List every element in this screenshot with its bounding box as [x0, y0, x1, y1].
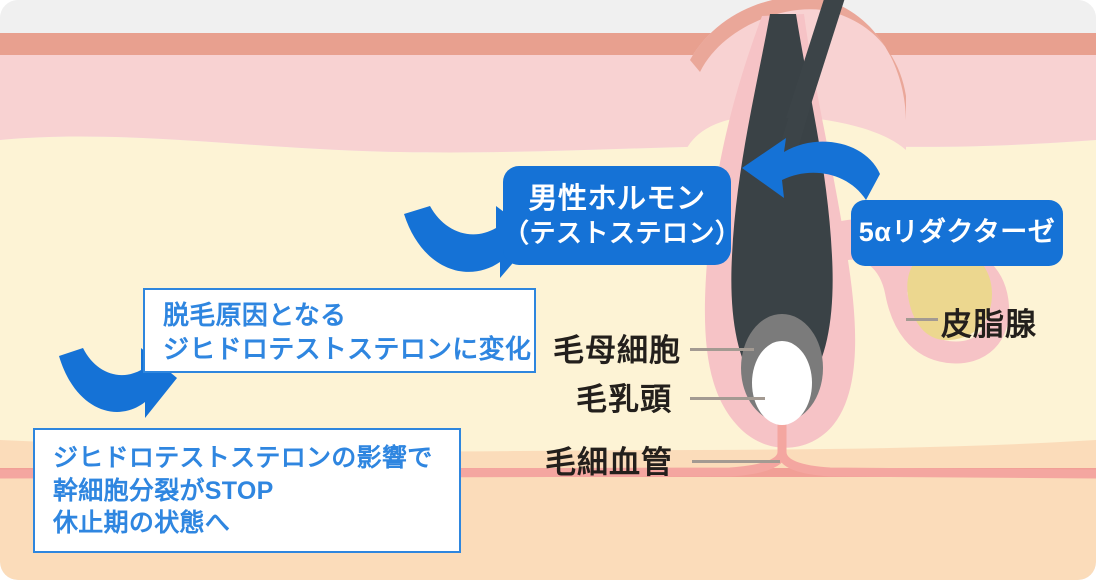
callout-dht-conversion-line1: 脱毛原因となる — [163, 299, 534, 333]
diagram-canvas: 男性ホルモン （テストステロン） 5αリダクターゼ 脱毛原因となる ジヒドロテス… — [0, 0, 1096, 580]
callout-dht-conversion[interactable]: 脱毛原因となる ジヒドロテストステロンに変化 — [143, 288, 536, 373]
callout-stem-cell-stop[interactable]: ジヒドロテストステロンの影響で 幹細胞分裂がSTOP 休止期の状態へ — [33, 428, 461, 553]
label-hair-matrix: 毛母細胞 — [553, 325, 681, 370]
callout-male-hormone-line2: （テストステロン） — [503, 218, 731, 248]
leader-line-capillary — [692, 460, 780, 463]
callout-stem-cell-stop-line2: 幹細胞分裂がSTOP — [53, 475, 459, 508]
leader-line-hair-matrix — [690, 348, 754, 351]
layer-epidermis — [0, 33, 1096, 55]
callout-male-hormone[interactable]: 男性ホルモン （テストステロン） — [503, 166, 731, 265]
label-dermal-papilla: 毛乳頭 — [576, 374, 672, 419]
leader-line-dermal-papilla — [690, 397, 765, 400]
label-sebaceous-gland: 皮脂腺 — [941, 299, 1037, 344]
leader-line-sebaceous-gland — [906, 318, 938, 321]
callout-stem-cell-stop-line1: ジヒドロテストステロンの影響で — [53, 442, 459, 475]
callout-male-hormone-line1: 男性ホルモン — [528, 183, 705, 217]
label-capillary: 毛細血管 — [545, 437, 673, 482]
callout-5-alpha-reductase-label: 5αリダクターゼ — [859, 217, 1056, 248]
callout-dht-conversion-line2: ジヒドロテストステロンに変化 — [163, 333, 534, 367]
callout-5-alpha-reductase[interactable]: 5αリダクターゼ — [851, 200, 1063, 266]
dermal-papilla — [752, 341, 812, 425]
callout-stem-cell-stop-line3: 休止期の状態へ — [53, 507, 459, 540]
